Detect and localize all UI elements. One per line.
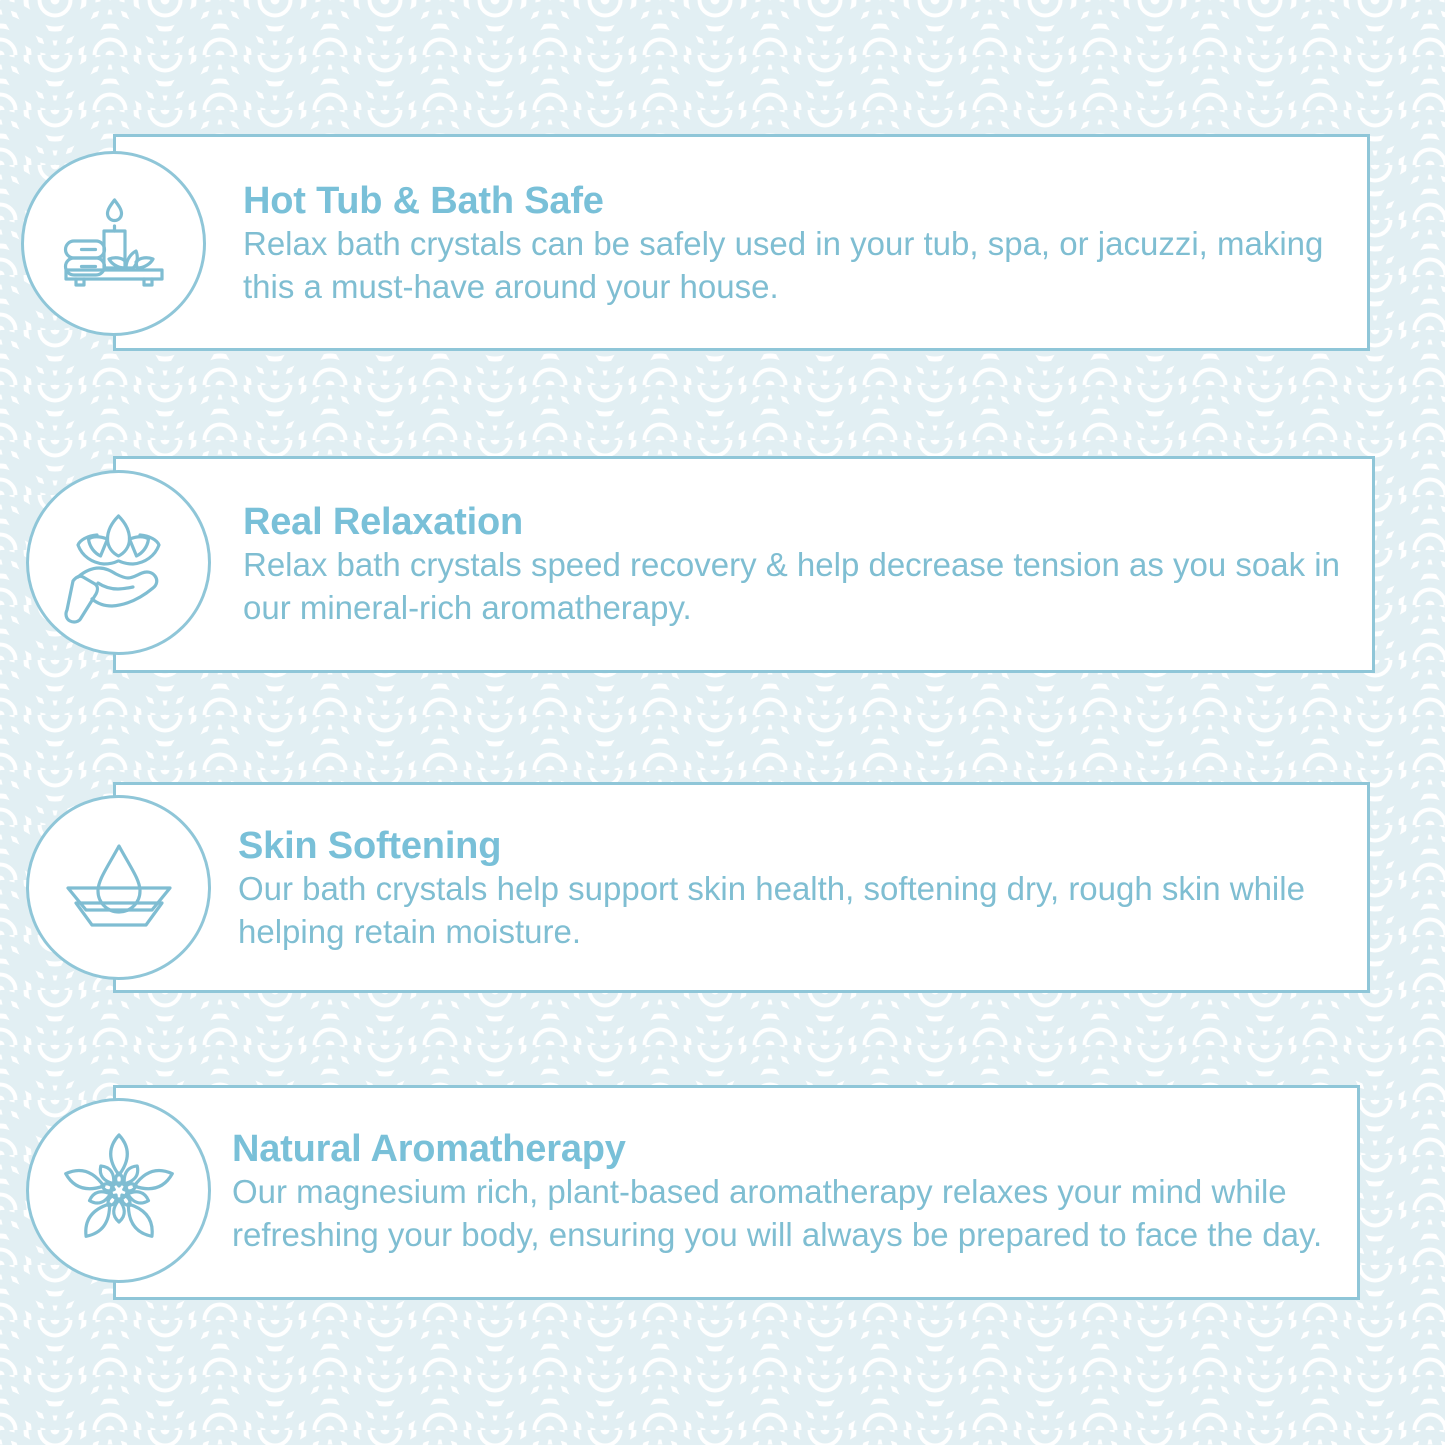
water-droplet-bowl-icon <box>26 795 211 980</box>
five-petal-flower-icon <box>26 1098 211 1283</box>
card-title: Hot Tub & Bath Safe <box>243 182 1347 222</box>
card-text-block: Natural Aromatherapy Our magnesium rich,… <box>232 1090 1345 1297</box>
card-body: Our bath crystals help support skin heal… <box>238 868 1347 954</box>
card-body: Our magnesium rich, plant-based aromathe… <box>232 1171 1345 1257</box>
card-body: Relax bath crystals speed recovery & hel… <box>243 544 1352 630</box>
card-title: Skin Softening <box>238 827 1347 867</box>
card-title: Real Relaxation <box>243 503 1352 543</box>
hand-holding-lotus-icon <box>26 470 211 655</box>
spa-candle-towels-icon <box>21 151 206 336</box>
feature-card-natural-aromatherapy: Natural Aromatherapy Our magnesium rich,… <box>113 1085 1360 1300</box>
feature-benefits-infographic: Hot Tub & Bath Safe Relax bath crystals … <box>0 0 1445 1445</box>
card-text-block: Skin Softening Our bath crystals help su… <box>238 791 1347 990</box>
feature-card-hot-tub-bath-safe: Hot Tub & Bath Safe Relax bath crystals … <box>113 134 1370 351</box>
feature-card-skin-softening: Skin Softening Our bath crystals help su… <box>113 782 1370 993</box>
feature-card-real-relaxation: Real Relaxation Relax bath crystals spee… <box>113 456 1375 673</box>
card-text-block: Hot Tub & Bath Safe Relax bath crystals … <box>243 143 1347 348</box>
card-title: Natural Aromatherapy <box>232 1130 1345 1170</box>
card-body: Relax bath crystals can be safely used i… <box>243 223 1347 309</box>
card-text-block: Real Relaxation Relax bath crystals spee… <box>243 463 1352 670</box>
